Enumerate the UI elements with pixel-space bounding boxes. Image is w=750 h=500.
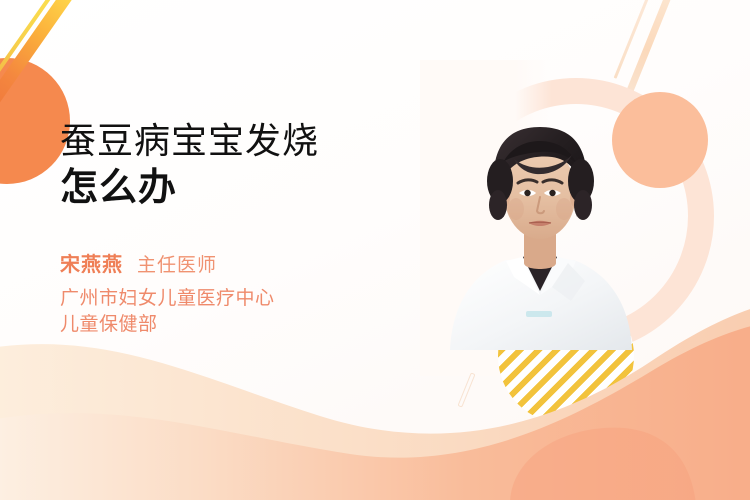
doctor-portrait-image: [440, 105, 640, 350]
text-content-block: 蚕豆病宝宝发烧 怎么办 宋燕燕 主任医师 广州市妇女儿童医疗中心 儿童保健部: [60, 118, 400, 338]
yellow-diagonal-stripe-icon: [0, 0, 59, 102]
outline-diagonal-stripe-small-icon: [457, 372, 475, 407]
doctor-role: 主任医师: [137, 250, 217, 277]
peach-diagonal-stripe-thin-icon: [614, 0, 656, 79]
orange-diagonal-stripe-icon: [0, 0, 75, 107]
doctor-name: 宋燕燕: [60, 248, 123, 277]
affiliation-line-1: 广州市妇女儿童医疗中心: [60, 286, 400, 312]
page-title-line-2: 怎么办: [60, 164, 400, 212]
affiliation-line-2: 儿童保健部: [60, 312, 400, 338]
credit-row: 宋燕燕 主任医师: [60, 248, 400, 277]
foreground-wave-decoration: [0, 324, 750, 500]
affiliation-block: 广州市妇女儿童医疗中心 儿童保健部: [60, 286, 400, 338]
poster-canvas: 蚕豆病宝宝发烧 怎么办 宋燕燕 主任医师 广州市妇女儿童医疗中心 儿童保健部: [0, 0, 750, 500]
outline-diagonal-stripe-icon: [143, 366, 169, 414]
peach-diagonal-stripe-icon: [626, 0, 674, 93]
page-title-line-1: 蚕豆病宝宝发烧: [60, 118, 400, 164]
